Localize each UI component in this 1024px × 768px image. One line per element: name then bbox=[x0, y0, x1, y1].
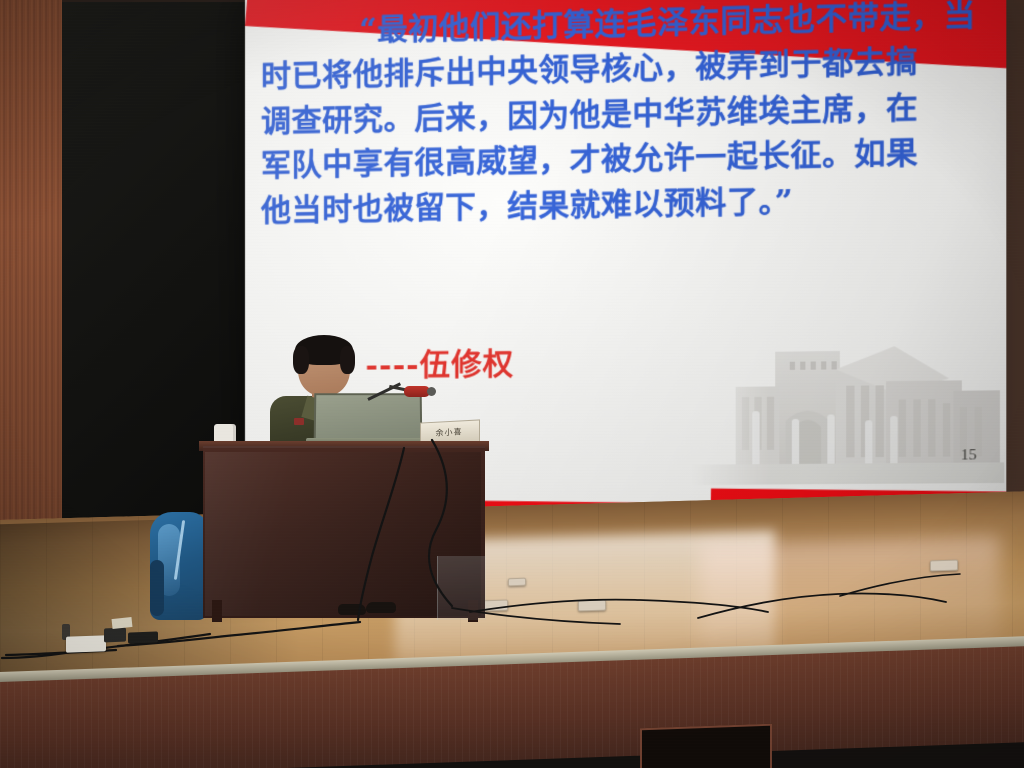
lecture-hall-photo: 15 “最初他们还打算连毛泽东同志也不带走，当 时已将他排斥出中央领导核心，被弄… bbox=[0, 0, 1024, 768]
slide-quote-text: “最初他们还打算连毛泽东同志也不带走，当 时已将他排斥出中央领导核心，被弄到于都… bbox=[261, 0, 994, 234]
presenter-shoe-right bbox=[366, 602, 396, 613]
microphone-tip bbox=[427, 387, 436, 396]
podium-leg bbox=[212, 600, 222, 622]
floor-outlet bbox=[578, 600, 606, 612]
stage-vent-opening bbox=[640, 724, 772, 768]
floor-outlet bbox=[508, 578, 526, 587]
slide-page-number: 15 bbox=[961, 447, 977, 465]
floor-outlet bbox=[930, 560, 958, 572]
presenter-badge bbox=[294, 418, 304, 425]
podium-side-glass bbox=[437, 556, 486, 620]
slide-attribution: ----伍修权 bbox=[365, 339, 514, 385]
presenter-hair-right bbox=[340, 346, 355, 374]
power-strip bbox=[66, 635, 106, 652]
backpack-strap bbox=[150, 560, 164, 616]
power-adapter-secondary bbox=[128, 631, 158, 643]
cable-tag bbox=[112, 617, 133, 629]
presenter-shoe-left bbox=[338, 604, 366, 615]
presenter-hair-left bbox=[293, 346, 309, 374]
left-wall-shading bbox=[0, 0, 62, 560]
power-adapter bbox=[104, 628, 126, 643]
building-watermark-icon bbox=[690, 330, 1004, 497]
